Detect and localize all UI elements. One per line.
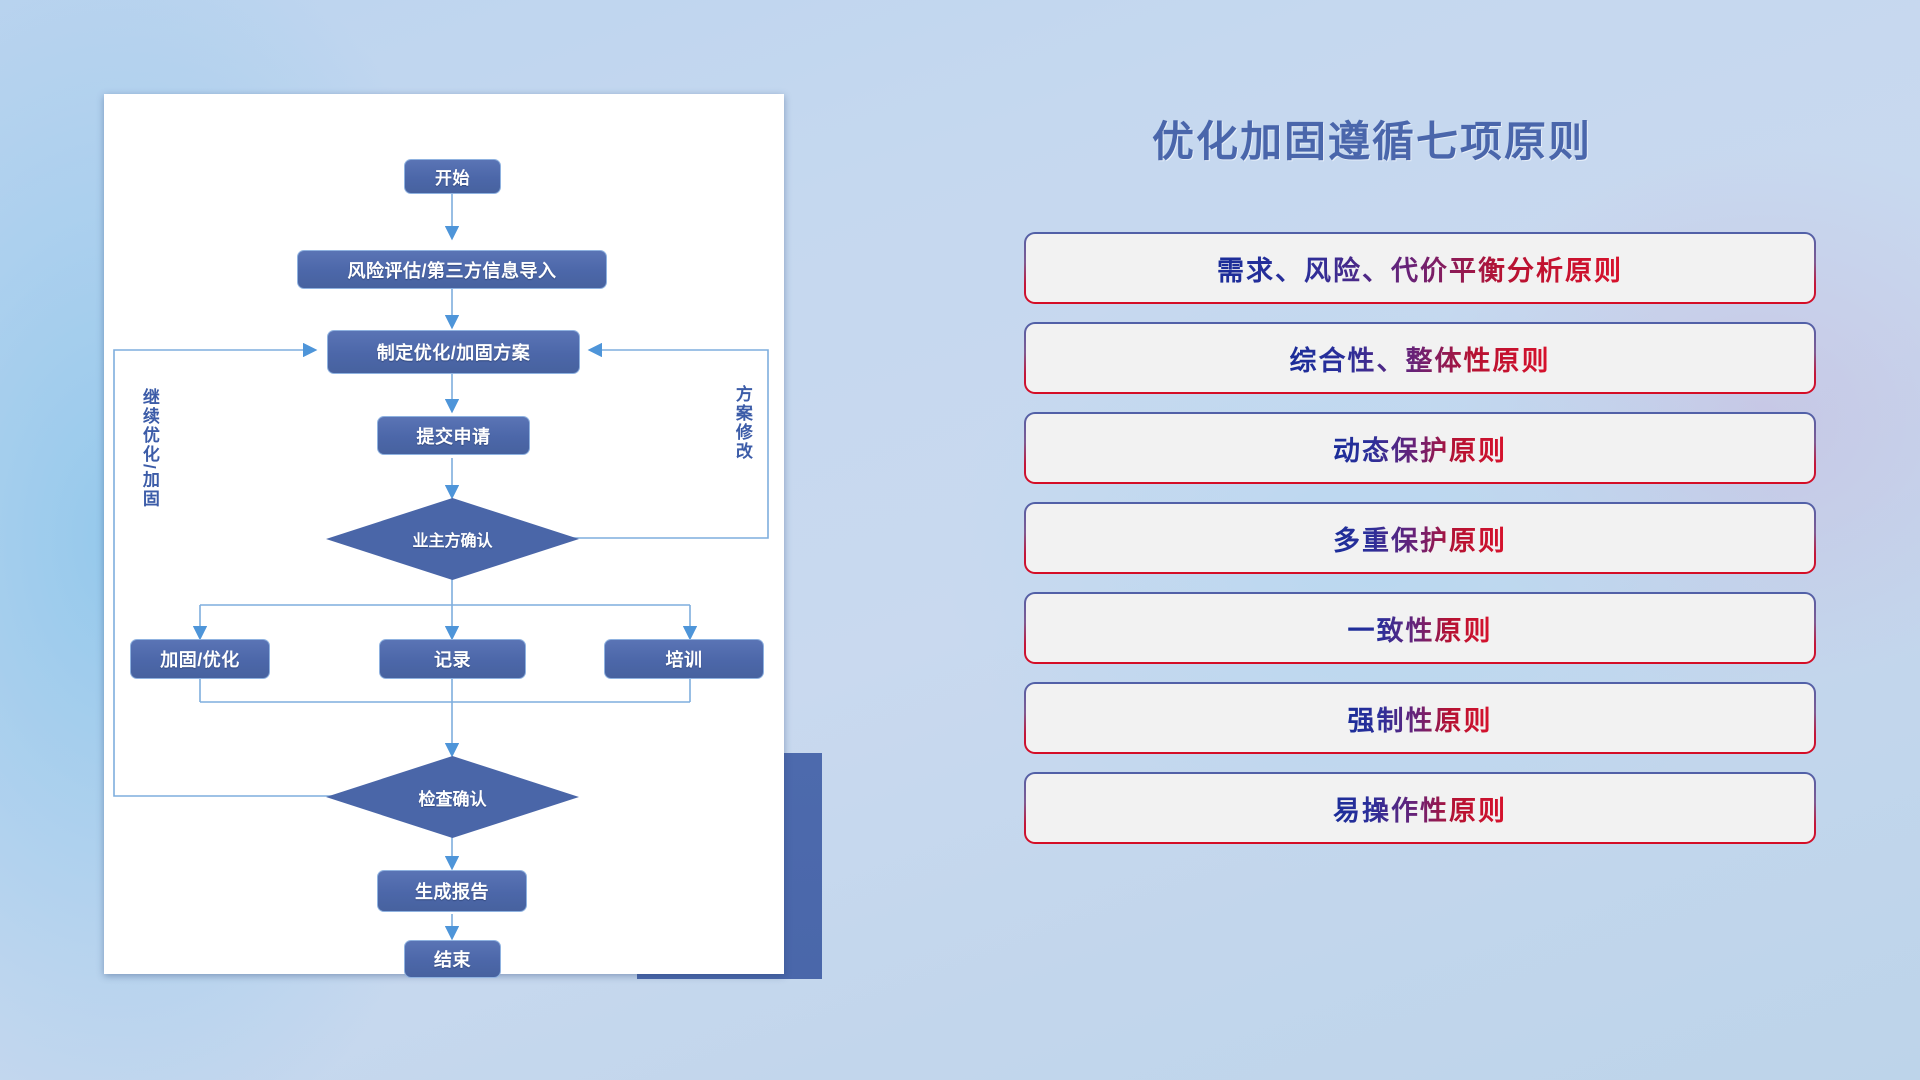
principle-item[interactable]: 动态保护原则 bbox=[1024, 412, 1816, 484]
principle-label: 需求、风险、代价平衡分析原则 bbox=[1217, 249, 1623, 288]
flow-node-plan[interactable]: 制定优化/加固方案 bbox=[327, 330, 580, 374]
flow-node-label: 制定优化/加固方案 bbox=[377, 339, 531, 365]
principle-item[interactable]: 多重保护原则 bbox=[1024, 502, 1816, 574]
edge-label-plan-revision: 方案修改 bbox=[733, 385, 751, 461]
flow-node-submit-application[interactable]: 提交申请 bbox=[377, 416, 530, 455]
principle-item[interactable]: 需求、风险、代价平衡分析原则 bbox=[1024, 232, 1816, 304]
flow-node-label: 记录 bbox=[434, 646, 471, 672]
principle-label: 强制性原则 bbox=[1348, 699, 1493, 738]
edge-label-continue-optimize: 继续优化/加固 bbox=[140, 388, 158, 509]
flow-node-label: 风险评估/第三方信息导入 bbox=[348, 257, 557, 283]
principle-inner: 综合性、整体性原则 bbox=[1026, 324, 1814, 392]
flow-node-label: 生成报告 bbox=[415, 878, 489, 904]
flow-node-record[interactable]: 记录 bbox=[379, 639, 526, 679]
flow-node-start[interactable]: 开始 bbox=[404, 159, 501, 194]
principle-inner: 动态保护原则 bbox=[1026, 414, 1814, 482]
flow-node-label: 培训 bbox=[666, 646, 703, 672]
flowchart-panel: 开始 风险评估/第三方信息导入 制定优化/加固方案 提交申请 业主方确认 加固/… bbox=[0, 0, 880, 1080]
flow-node-end[interactable]: 结束 bbox=[404, 940, 501, 978]
principle-label: 一致性原则 bbox=[1348, 609, 1493, 648]
principle-label: 易操作性原则 bbox=[1333, 789, 1507, 828]
principle-item[interactable]: 综合性、整体性原则 bbox=[1024, 322, 1816, 394]
flow-node-label: 结束 bbox=[434, 946, 471, 972]
principle-inner: 多重保护原则 bbox=[1026, 504, 1814, 572]
principle-inner: 易操作性原则 bbox=[1026, 774, 1814, 842]
principle-label: 多重保护原则 bbox=[1333, 519, 1507, 558]
principle-item[interactable]: 强制性原则 bbox=[1024, 682, 1816, 754]
flow-node-label: 业主方确认 bbox=[412, 527, 492, 551]
flow-node-reinforce[interactable]: 加固/优化 bbox=[130, 639, 270, 679]
flow-node-label: 提交申请 bbox=[417, 423, 491, 449]
principles-list: 需求、风险、代价平衡分析原则 综合性、整体性原则 动态保护原则 多重保护原则 一… bbox=[1024, 232, 1816, 862]
principles-panel: 优化加固遵循七项原则 需求、风险、代价平衡分析原则 综合性、整体性原则 动态保护… bbox=[1000, 0, 1920, 1080]
principle-item[interactable]: 一致性原则 bbox=[1024, 592, 1816, 664]
principle-label: 动态保护原则 bbox=[1333, 429, 1507, 468]
flow-node-label: 开始 bbox=[435, 164, 470, 189]
principle-inner: 一致性原则 bbox=[1026, 594, 1814, 662]
principle-label: 综合性、整体性原则 bbox=[1290, 339, 1551, 378]
principle-inner: 强制性原则 bbox=[1026, 684, 1814, 752]
flow-node-label: 检查确认 bbox=[419, 785, 487, 810]
principle-inner: 需求、风险、代价平衡分析原则 bbox=[1026, 234, 1814, 302]
flow-node-generate-report[interactable]: 生成报告 bbox=[377, 870, 527, 912]
flow-node-label: 加固/优化 bbox=[160, 646, 240, 672]
flow-node-training[interactable]: 培训 bbox=[604, 639, 764, 679]
flow-node-risk-assessment[interactable]: 风险评估/第三方信息导入 bbox=[297, 250, 607, 289]
panel-title: 优化加固遵循七项原则 bbox=[1152, 108, 1592, 169]
principle-item[interactable]: 易操作性原则 bbox=[1024, 772, 1816, 844]
